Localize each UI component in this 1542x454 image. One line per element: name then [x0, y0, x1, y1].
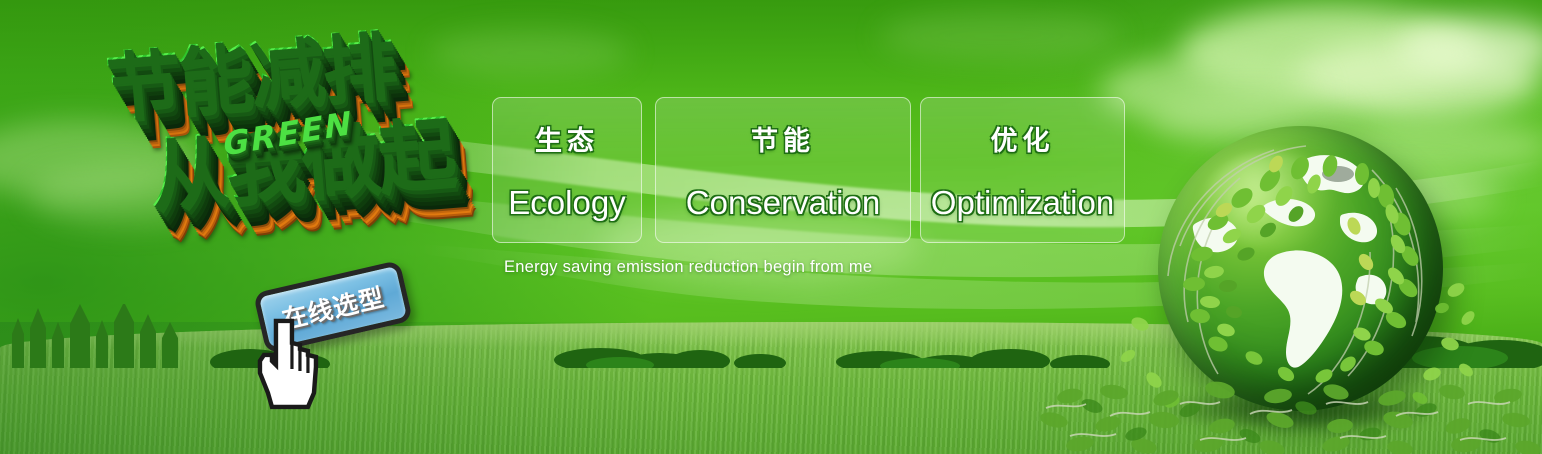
feature-card-ecology[interactable]: 生态 Ecology	[492, 97, 642, 243]
cloud-icon	[1398, 18, 1542, 76]
feature-card-conservation[interactable]: 节能 Conservation	[655, 97, 911, 243]
earth-globe-graphic	[1120, 112, 1480, 452]
headline-3d: 节能减排 GREEN 从我做起	[87, 20, 504, 281]
green-energy-banner: 节能减排 GREEN 从我做起 生态 Ecology 节能 Conservati…	[0, 0, 1542, 454]
tagline-text: Energy saving emission reduction begin f…	[504, 258, 872, 277]
feature-card-en-label: Ecology	[508, 184, 625, 222]
online-selection-button-label: 在线选型	[278, 278, 387, 336]
feature-card-en-label: Optimization	[931, 184, 1114, 222]
cloud-icon	[880, 10, 1120, 62]
cloud-icon	[1180, 6, 1480, 98]
feature-card-group: 生态 Ecology 节能 Conservation 优化 Optimizati…	[492, 97, 1125, 243]
feature-card-en-label: Conservation	[686, 184, 880, 222]
cloud-icon	[1290, 40, 1540, 118]
drifting-leaves	[1120, 112, 1480, 452]
feature-card-optimization[interactable]: 优化 Optimization	[920, 97, 1125, 243]
feature-card-cn-label: 生态	[535, 119, 599, 158]
feature-card-cn-label: 节能	[751, 119, 815, 158]
feature-card-cn-label: 优化	[991, 119, 1055, 158]
